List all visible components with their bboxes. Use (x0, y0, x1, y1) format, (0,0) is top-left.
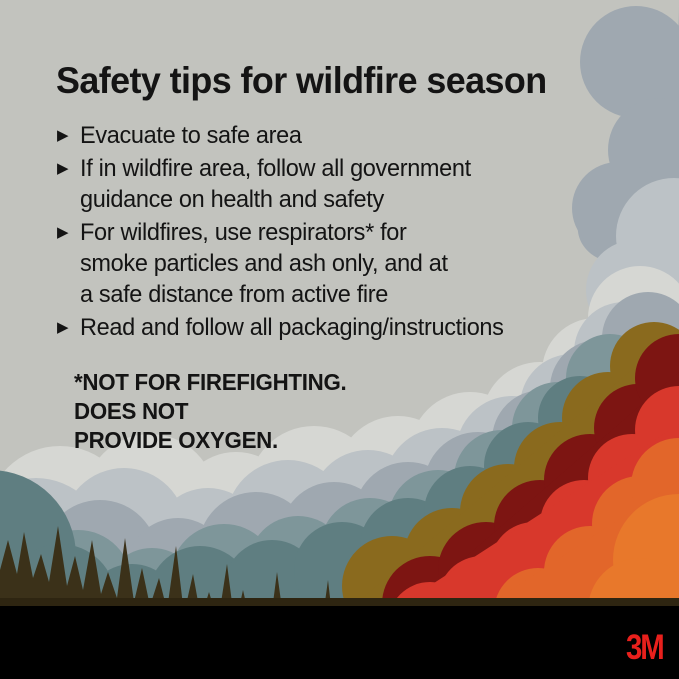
bullet-triangle-icon: ▶ (50, 153, 80, 184)
wildfire-safety-poster: Safety tips for wildfire season ▶ Evacua… (0, 0, 679, 679)
list-item: ▶ Read and follow all packaging/instruct… (50, 312, 610, 343)
list-item-text: Evacuate to safe area (80, 120, 599, 151)
list-item-text: Read and follow all packaging/instructio… (80, 312, 599, 343)
list-item: ▶ Evacuate to safe area (50, 120, 610, 151)
list-item: ▶ If in wildfire area, follow all govern… (50, 153, 610, 215)
base-black-band (0, 606, 679, 679)
bullet-triangle-icon: ▶ (50, 120, 80, 151)
brand-logo-3m: 3M (626, 630, 663, 665)
safety-tips-list: ▶ Evacuate to safe area ▶ If in wildfire… (50, 120, 610, 345)
list-item-text: For wildfires, use respirators* for smok… (80, 217, 599, 310)
disclaimer-text: *NOT FOR FIREFIGHTING. DOES NOT PROVIDE … (74, 368, 346, 455)
list-item: ▶ For wildfires, use respirators* for sm… (50, 217, 610, 310)
bullet-triangle-icon: ▶ (50, 217, 80, 248)
page-title: Safety tips for wildfire season (56, 62, 547, 101)
list-item-text: If in wildfire area, follow all governme… (80, 153, 599, 215)
bullet-triangle-icon: ▶ (50, 312, 80, 343)
